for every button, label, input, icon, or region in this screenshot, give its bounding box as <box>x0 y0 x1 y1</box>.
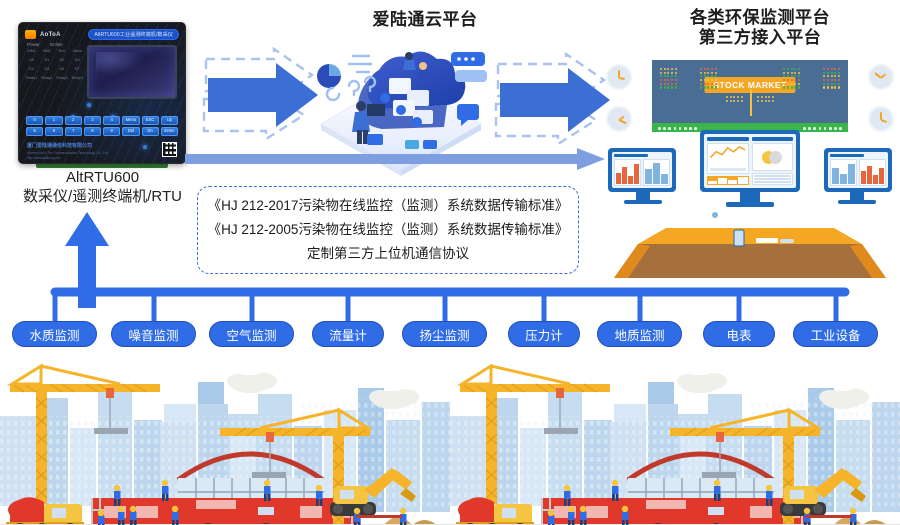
led-indicator: Relay1 <box>26 76 37 80</box>
sensor-tag-label: 地质监测 <box>614 325 664 344</box>
sensor-tag-geology[interactable]: 地质监测 <box>597 321 682 347</box>
sensor-tag-pressure[interactable]: 压力计 <box>508 321 580 347</box>
board-divider <box>750 90 752 116</box>
flow-arrow-cloud-to-platform <box>492 50 612 150</box>
device-top-bar: AoToA AltRTU600工业遥测终端机/数采仪 <box>25 28 179 41</box>
device-company-name: 厦门爱陆通通信科技有限公司 <box>27 142 92 149</box>
device-company-name-en: Xiamen AoLuTon Communication Technology … <box>27 151 108 155</box>
led-caption: D5 <box>41 67 52 71</box>
device-body: AoToA AltRTU600工业遥测终端机/数采仪 Power Online … <box>18 22 186 164</box>
clock-icon <box>606 64 632 90</box>
cloud-tablet-icon <box>367 134 383 145</box>
led-caption: Alarm <box>72 49 83 53</box>
qr-code-icon <box>162 142 177 157</box>
keypad-key: Up <box>161 116 178 125</box>
monitor-right-screen <box>828 152 888 188</box>
monitor-center-stand <box>740 192 760 202</box>
flow-arrow-device-to-cloud <box>200 45 320 145</box>
sensor-tag-label: 电表 <box>726 325 751 344</box>
sensor-tag-dust[interactable]: 扬尘监测 <box>402 321 487 347</box>
monitor-right-base <box>838 200 876 204</box>
led-caption: D2 <box>56 58 67 62</box>
construction-site-illustration <box>0 358 900 525</box>
platform-heading-line2: 第三方接入平台 <box>620 28 900 48</box>
monitor-left <box>608 148 676 192</box>
led-indicator: Alarm <box>72 49 83 53</box>
stock-display-board: STOCK MARKET <box>652 60 848 132</box>
led-indicator: D4 <box>26 67 37 71</box>
sensor-tag-label: 水质监测 <box>29 325 79 344</box>
desk-accent-dot <box>712 212 718 218</box>
sensor-tag-water-quality[interactable]: 水质监测 <box>12 321 97 347</box>
monitor-center <box>700 130 800 192</box>
led-indicator: Run <box>56 49 67 53</box>
brand-name: AoToA <box>40 32 61 38</box>
circuit-node-icon <box>143 145 147 149</box>
led-indicator: Relay2 <box>41 76 52 80</box>
status-label-online: Online <box>50 42 63 47</box>
led-caption: D0 <box>26 58 37 62</box>
sensor-tag-label: 工业设备 <box>810 325 860 344</box>
keypad-key: Menu <box>122 116 139 125</box>
led-caption: Relay3 <box>56 76 67 80</box>
circuit-node-icon <box>87 103 91 107</box>
clock-icon <box>868 64 894 90</box>
led-indicator: Relay3 <box>56 76 67 80</box>
sensor-tag-label: 流量计 <box>329 325 367 344</box>
sensor-tag-label: 压力计 <box>525 325 563 344</box>
monitoring-platform-illustration: STOCK MARKET <box>600 52 900 282</box>
device-led-grid: SIM1 SIM2 Run Alarm D0 D1 D2 D3 D4 D5 D6… <box>26 49 82 80</box>
sensor-tag-label: 噪音监测 <box>128 325 178 344</box>
keypad-key: 8 <box>84 127 101 136</box>
direct-transmission-arrow <box>185 148 605 170</box>
device-lcd-screen <box>87 45 177 99</box>
led-matrix-block <box>823 68 840 89</box>
led-caption: SIM2 <box>41 49 52 53</box>
led-indicator: SIM2 <box>41 49 52 53</box>
cloud-platform-heading: 爱陆通云平台 <box>300 10 550 30</box>
device-company-url: http://www.ailutong.com <box>27 156 61 160</box>
clock-icon <box>868 106 894 132</box>
led-indicator: D3 <box>72 58 83 62</box>
device-model-banner: AltRTU600工业遥测终端机/数采仪 <box>88 29 179 40</box>
led-indicator: D5 <box>41 67 52 71</box>
keypad-key: Del <box>122 127 139 136</box>
platform-heading-line1: 各类环保监测平台 <box>620 8 900 28</box>
led-caption: D4 <box>26 67 37 71</box>
keypad-key: ESC <box>142 116 159 125</box>
led-caption: SIM1 <box>26 49 37 53</box>
monitor-left-base <box>624 200 662 204</box>
clock-icon <box>606 106 632 132</box>
device-keypad: 0 1 2 3 4 Menu ESC Up 5 6 7 8 9 Del Dn E… <box>26 116 178 136</box>
led-indicator: D6 <box>56 67 67 71</box>
device-caption-model: AltRTU600 <box>0 168 205 187</box>
led-indicator: D2 <box>56 58 67 62</box>
cloud-pie-chart-icon <box>317 64 341 88</box>
control-desk <box>614 228 886 280</box>
keypad-key: 0 <box>26 116 43 125</box>
monitor-right <box>824 148 892 192</box>
led-indicator: D0 <box>26 58 37 62</box>
led-caption: D7 <box>72 67 83 71</box>
led-matrix-block <box>757 96 774 102</box>
sensor-tag-industrial-equipment[interactable]: 工业设备 <box>793 321 878 347</box>
ticker-dots <box>658 127 697 130</box>
diagram-canvas: 爱陆通云平台 各类环保监测平台 第三方接入平台 AoToA AltRTU600工… <box>0 0 900 525</box>
sensor-tag-label: 扬尘监测 <box>419 325 469 344</box>
rtu-device-illustration: AoToA AltRTU600工业遥测终端机/数采仪 Power Online … <box>18 22 186 164</box>
status-label-power: Power <box>27 42 40 47</box>
led-caption: Run <box>56 49 67 53</box>
led-caption: D6 <box>56 67 67 71</box>
flow-arrow-sensors-to-device <box>62 212 112 308</box>
led-caption: Relay1 <box>26 76 37 80</box>
led-indicator: SIM1 <box>26 49 37 53</box>
keypad-key: 1 <box>45 116 62 125</box>
sensor-tag-electric-meter[interactable]: 电表 <box>703 321 775 347</box>
led-indicator: Relay4 <box>72 76 83 80</box>
sensor-tag-noise[interactable]: 噪音监测 <box>111 321 196 347</box>
led-indicator: D7 <box>72 67 83 71</box>
keypad-key: 4 <box>103 116 120 125</box>
standards-protocol-box: 《HJ 212-2017污染物在线监控（监测）系统数据传输标准》 《HJ 212… <box>197 186 579 274</box>
led-matrix-block <box>700 68 717 89</box>
led-matrix-block <box>783 68 800 89</box>
device-caption: AltRTU600 数采仪/遥测终端机/RTU <box>0 168 205 206</box>
led-matrix-block <box>726 96 743 102</box>
standard-line-2: 《HJ 212-2005污染物在线监控（监测）系统数据传输标准》 <box>208 219 569 241</box>
device-status-labels: Power Online <box>27 42 63 47</box>
monitor-left-screen <box>612 152 672 188</box>
led-caption: Relay2 <box>41 76 52 80</box>
led-caption: D1 <box>41 58 52 62</box>
ticker-dots <box>803 127 842 130</box>
monitor-center-screen <box>704 134 796 188</box>
monitor-right-stand <box>850 192 864 200</box>
keypad-key: 7 <box>65 127 82 136</box>
led-caption: Relay4 <box>72 76 83 80</box>
keypad-key: Dn <box>142 127 159 136</box>
monitor-left-stand <box>636 192 650 200</box>
sensor-tag-label: 空气监测 <box>226 325 276 344</box>
led-indicator: D1 <box>41 58 52 62</box>
keypad-key: 9 <box>103 127 120 136</box>
keypad-key: 3 <box>84 116 101 125</box>
keypad-key: 5 <box>26 127 43 136</box>
sensor-tag-flow-meter[interactable]: 流量计 <box>312 321 384 347</box>
sensor-tag-air[interactable]: 空气监测 <box>209 321 294 347</box>
monitor-center-base <box>726 202 774 207</box>
keypad-key: Enter <box>161 127 178 136</box>
device-caption-type: 数采仪/遥测终端机/RTU <box>0 187 205 206</box>
led-matrix-block <box>660 68 677 89</box>
keypad-key: 6 <box>45 127 62 136</box>
standard-line-3: 定制第三方上位机通信协议 <box>307 243 469 265</box>
monitoring-platform-heading: 各类环保监测平台 第三方接入平台 <box>620 8 900 48</box>
led-caption: D3 <box>72 58 83 62</box>
keypad-key: 2 <box>65 116 82 125</box>
brand-logo-icon <box>25 30 36 39</box>
standard-line-1: 《HJ 212-2017污染物在线监控（监测）系统数据传输标准》 <box>208 195 569 217</box>
